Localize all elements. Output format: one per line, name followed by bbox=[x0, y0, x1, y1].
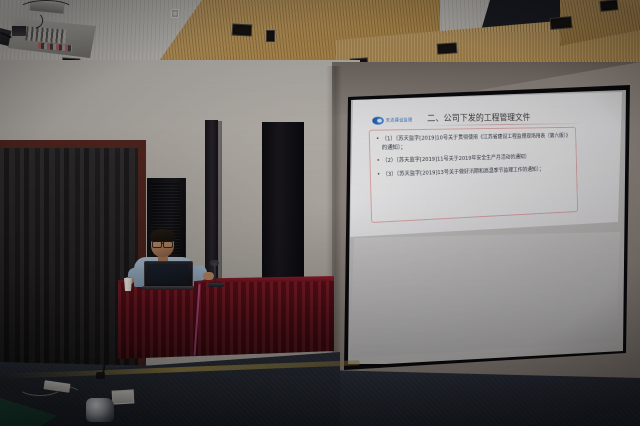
window-curtain bbox=[0, 148, 138, 376]
laptop-base bbox=[141, 286, 195, 290]
conference-room-photo: 天达建设监理 二、公司下发的工程管理文件 • （1）〔苏天监字[2019]10号… bbox=[0, 0, 640, 426]
list-item: • （3）〔苏天监字[2019]13号关于做好汛期和高温季节监理工作的通知〕； bbox=[378, 164, 576, 179]
eyeglasses-icon bbox=[152, 241, 173, 246]
slide-title: 二、公司下发的工程管理文件 bbox=[427, 111, 531, 124]
logo-text: 天达建设监理 bbox=[386, 117, 413, 123]
bullet-text: （2）〔苏天监字[2019]11号关于2019年安全生产月活动的通知〕 bbox=[382, 153, 530, 165]
list-item: • （1）〔苏天监字[2019]10号关于贯彻使用《江苏省建设工程监理现场用表（… bbox=[377, 132, 575, 152]
wall-column-right bbox=[262, 122, 304, 282]
loose-cable bbox=[46, 386, 82, 406]
wall-column-edge bbox=[218, 121, 222, 279]
slide-bullet-list: • （1）〔苏天监字[2019]10号关于贯彻使用《江苏省建设工程监理现场用表（… bbox=[377, 132, 576, 184]
microphone-base bbox=[208, 283, 224, 287]
ceiling-sprinkler-icon bbox=[171, 9, 179, 18]
ceiling-light-fixture bbox=[550, 16, 573, 30]
presentation-slide: 天达建设监理 二、公司下发的工程管理文件 • （1）〔苏天监字[2019]10号… bbox=[350, 94, 591, 234]
logo-mark-icon bbox=[372, 116, 384, 124]
ceiling-downlight-icon bbox=[266, 30, 275, 42]
projection-screen-blank-area bbox=[350, 232, 622, 358]
ceiling-light-fixture bbox=[232, 23, 253, 36]
ceiling-light-fixture bbox=[599, 0, 618, 12]
wall-column-left bbox=[205, 120, 218, 280]
laptop-screen bbox=[147, 264, 188, 284]
ceiling-light-fixture bbox=[437, 42, 458, 54]
company-logo: 天达建设监理 bbox=[372, 115, 416, 124]
bullet-marker-icon: • bbox=[378, 171, 380, 179]
bullet-marker-icon: • bbox=[377, 136, 379, 153]
presenter-right-hand bbox=[203, 272, 214, 280]
eyeglass-lens-right bbox=[163, 241, 173, 248]
list-item: • （2）〔苏天监字[2019]11号关于2019年安全生产月活动的通知〕 bbox=[377, 152, 575, 166]
projector-cable bbox=[18, 0, 74, 20]
floor-outlet bbox=[112, 389, 135, 404]
bullet-marker-icon: • bbox=[377, 157, 379, 165]
bullet-text: （3）〔苏天监字[2019]13号关于做好汛期和高温季节监理工作的通知〕； bbox=[382, 165, 543, 178]
chrome-equipment bbox=[86, 398, 114, 422]
bullet-text: （1）〔苏天监字[2019]10号关于贯彻使用《江苏省建设工程监理现场用表（第六… bbox=[381, 132, 574, 152]
